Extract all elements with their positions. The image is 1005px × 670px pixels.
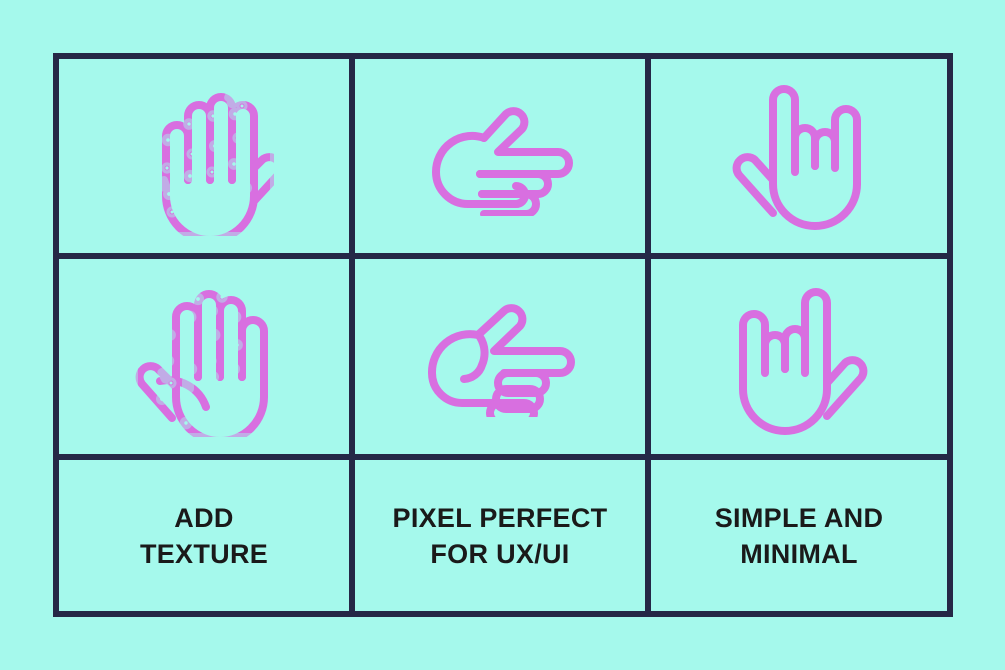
grid-cell-label-pixel-perfect[interactable]: PIXEL PERFECT FOR UX/UI xyxy=(355,460,651,611)
hand-palm-textured-icon xyxy=(59,59,349,253)
label-pixel-perfect: PIXEL PERFECT FOR UX/UI xyxy=(393,500,608,572)
grid-cell-pointing-right[interactable] xyxy=(355,59,651,259)
label-add-texture: ADD TEXTURE xyxy=(140,500,268,572)
grid-cell-palm-textured[interactable] xyxy=(59,59,355,259)
grid-cell-pointing-right-outline[interactable] xyxy=(355,259,651,460)
icon-grid: ADD TEXTURE PIXEL PERFECT FOR UX/UI SIMP… xyxy=(53,53,953,617)
hand-pointing-right-outline-icon xyxy=(355,259,645,454)
hand-rock-horns-icon xyxy=(651,59,947,253)
poster-canvas: ADD TEXTURE PIXEL PERFECT FOR UX/UI SIMP… xyxy=(0,0,1005,670)
hand-palm-mirrored-textured-icon xyxy=(59,259,349,454)
grid-cell-rock-horns-mirrored[interactable] xyxy=(651,259,947,460)
grid-cell-rock-horns[interactable] xyxy=(651,59,947,259)
grid-cell-label-add-texture[interactable]: ADD TEXTURE xyxy=(59,460,355,611)
label-simple-minimal: SIMPLE AND MINIMAL xyxy=(715,500,884,572)
hand-pointing-right-icon xyxy=(355,59,645,253)
grid-cell-palm-mirrored-textured[interactable] xyxy=(59,259,355,460)
hand-rock-horns-mirrored-icon xyxy=(651,259,947,454)
grid-cell-label-simple-minimal[interactable]: SIMPLE AND MINIMAL xyxy=(651,460,947,611)
